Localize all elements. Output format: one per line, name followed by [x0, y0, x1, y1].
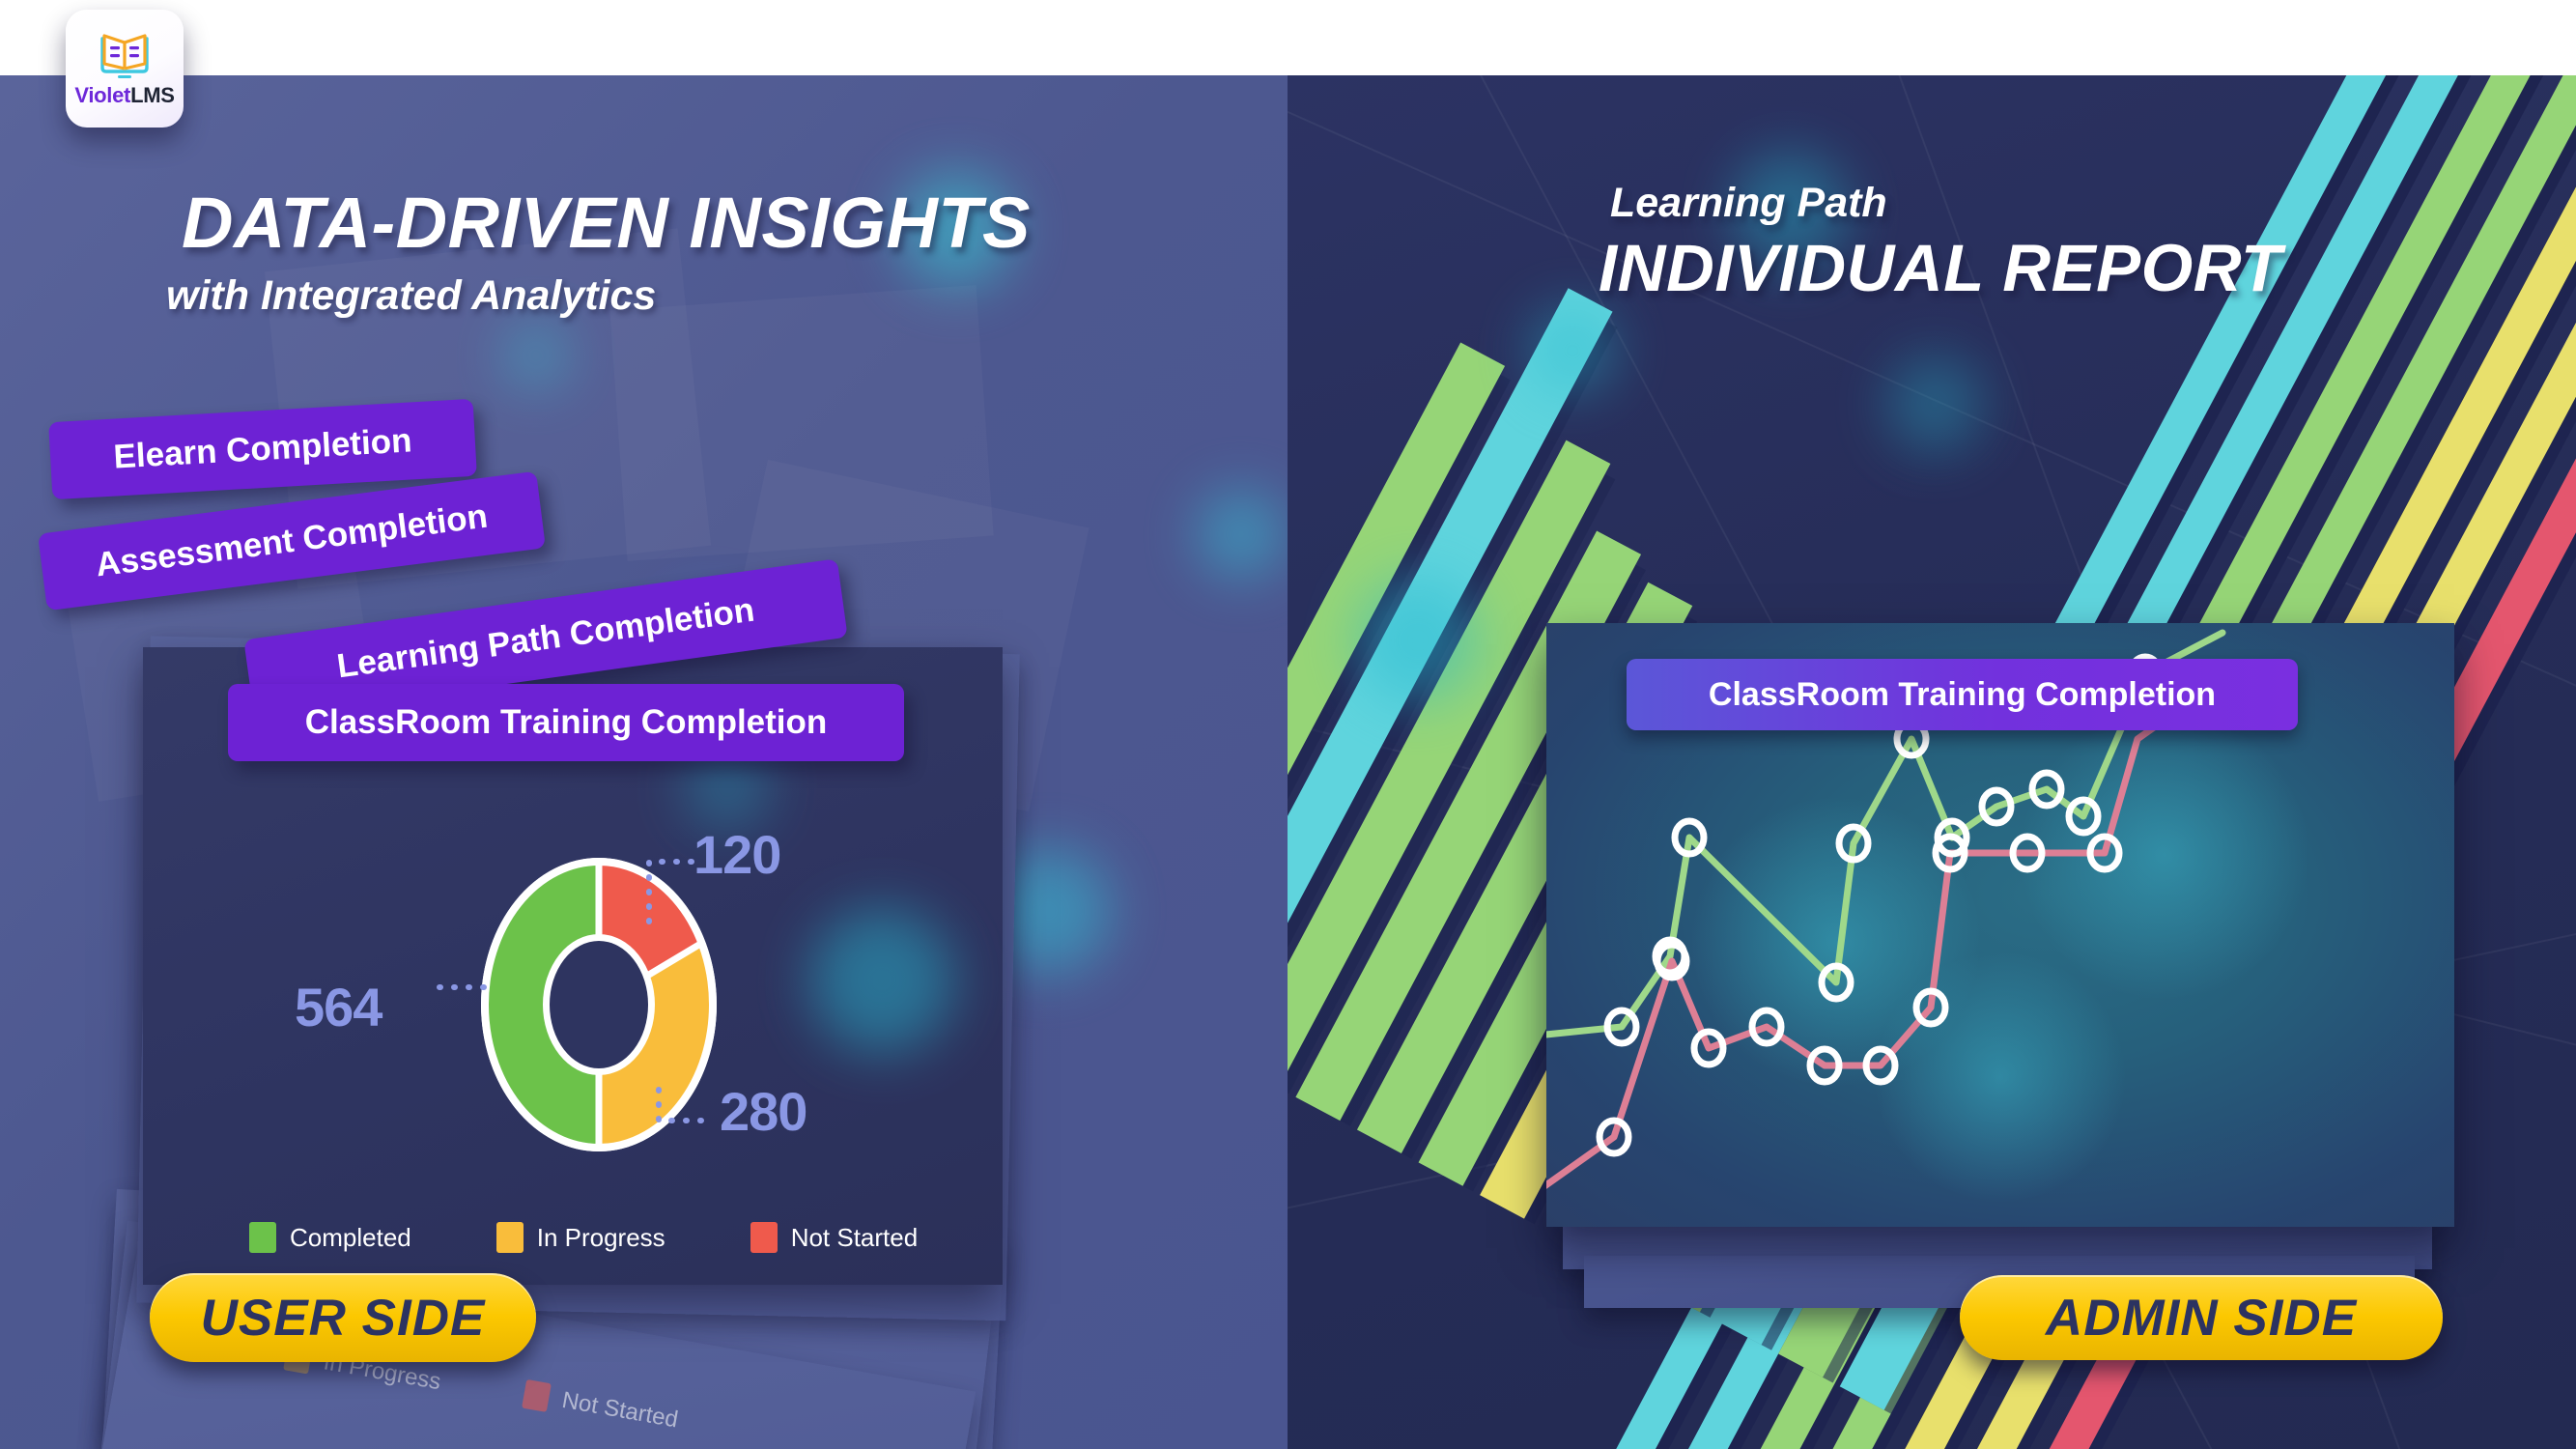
legend-swatch-not-started — [750, 1222, 778, 1253]
right-card-tag[interactable]: ClassRoom Training Completion — [1627, 659, 2298, 730]
violetlms-logo[interactable]: VioletLMS — [66, 10, 184, 128]
donut-legend: Completed In Progress Not Started — [249, 1222, 1003, 1253]
poster-canvas: ClassRoom Training Completion Not Starte… — [0, 0, 2576, 1449]
legend-swatch-in-progress — [496, 1222, 524, 1253]
legend-label-completed: Completed — [290, 1223, 411, 1253]
left-subheadline: with Integrated Analytics — [166, 272, 656, 320]
logo-wordmark: VioletLMS — [74, 83, 174, 108]
admin-side-button[interactable]: ADMIN SIDE — [1960, 1275, 2443, 1360]
legend-swatch-completed — [249, 1222, 276, 1253]
legend-label-in-progress: In Progress — [537, 1223, 665, 1253]
legend-swatch-not-started — [522, 1379, 552, 1412]
left-headline: DATA-DRIVEN INSIGHTS — [182, 182, 1031, 264]
donut-label-completed: 564 — [295, 976, 382, 1038]
logo-word-lms: LMS — [130, 83, 175, 107]
right-kicker: Learning Path — [1610, 180, 1887, 227]
glow-blob — [1198, 491, 1285, 578]
right-headline: INDIVIDUAL REPORT — [1599, 230, 2282, 306]
logo-word-violet: Violet — [74, 83, 130, 107]
legend-label-not-started: Not Started — [560, 1387, 680, 1435]
top-white-strip — [0, 0, 2576, 75]
user-side-button[interactable]: USER SIDE — [150, 1273, 536, 1362]
open-book-icon — [95, 29, 155, 79]
legend-item-not-started: Not Started — [750, 1222, 919, 1253]
legend-item-completed: Completed — [249, 1222, 411, 1253]
legend-item-in-progress: In Progress — [496, 1222, 665, 1253]
tag-classroom-training-completion[interactable]: ClassRoom Training Completion — [228, 684, 904, 761]
donut-leader-lines — [406, 821, 985, 1169]
legend-label-not-started: Not Started — [791, 1223, 919, 1253]
